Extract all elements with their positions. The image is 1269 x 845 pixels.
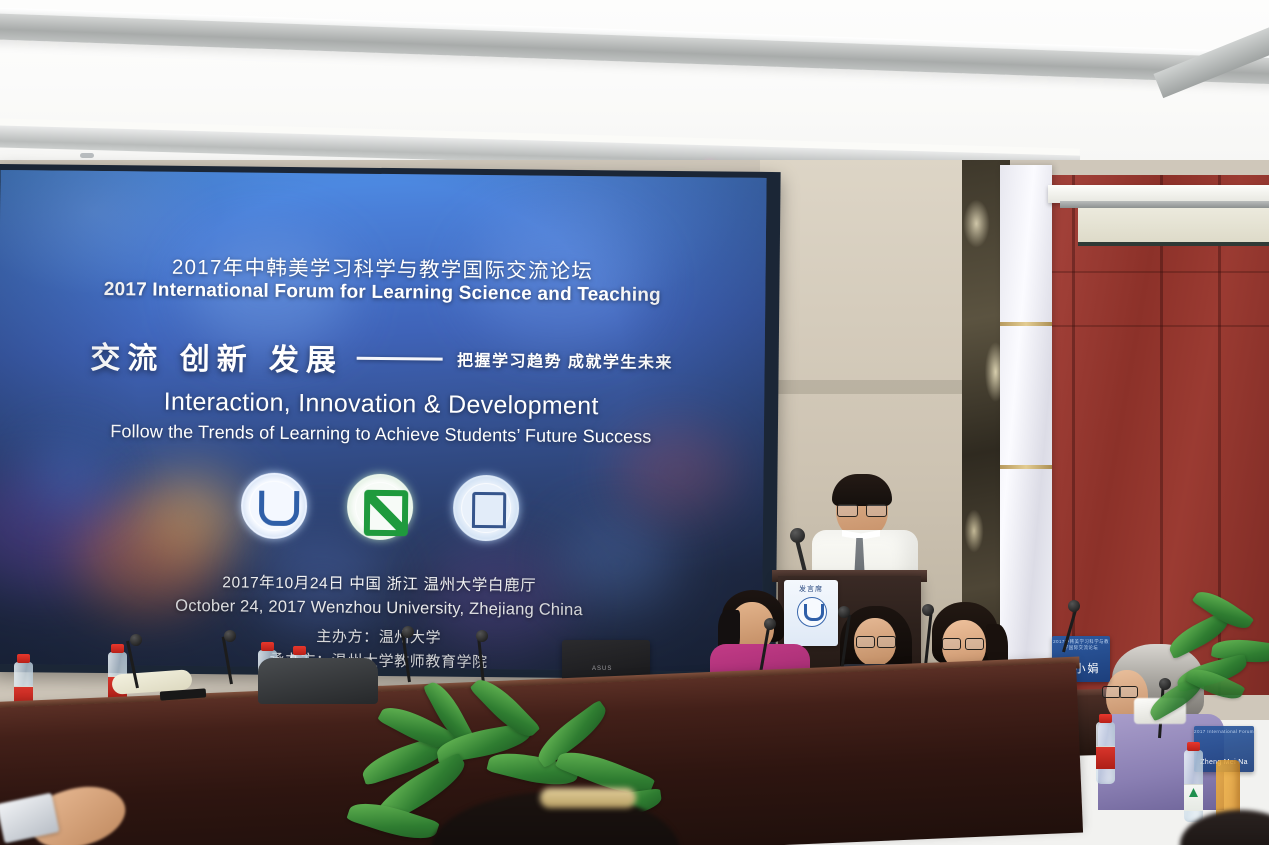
- projector-screen-lip: [1060, 201, 1269, 208]
- rolled-projection-screen: [1078, 208, 1269, 246]
- panel-microphone-head-1: [764, 618, 776, 630]
- front-microphone-head-5: [1068, 600, 1080, 612]
- panelist-denim-glasses-icon: [942, 638, 984, 648]
- front-microphone-head-4: [476, 630, 488, 642]
- speaker-hair: [832, 474, 892, 506]
- podium-microphone-head: [790, 528, 805, 543]
- projection-screen: 2017年中韩美学习科学与教学国际交流论坛 2017 International…: [0, 170, 767, 672]
- panel-microphone-head-2: [838, 606, 850, 618]
- conference-photo-scene: 2017年中韩美学习科学与教学国际交流论坛 2017 International…: [0, 0, 1269, 845]
- laptop-brand-label: ASUS: [592, 666, 612, 672]
- front-microphone-head-3: [402, 626, 414, 638]
- projection-screen-frame: 2017年中韩美学习科学与教学国际交流论坛 2017 International…: [0, 164, 781, 680]
- panelist-grey-hair-glasses-icon: [1102, 686, 1138, 696]
- foreground-hair-clip: [540, 788, 636, 808]
- pillar-gold-band-lower: [1000, 465, 1052, 469]
- front-microphone-head-2: [224, 630, 236, 642]
- ceiling-vent: [80, 153, 94, 158]
- potted-plant-right-lower: [1146, 678, 1266, 788]
- front-microphone-head-1: [130, 634, 142, 646]
- water-bottle-5[interactable]: [1096, 722, 1115, 784]
- placard-top-line: 2017中韩美学习科学与教学国际交流论坛: [1052, 639, 1110, 651]
- chair-back: [258, 658, 378, 704]
- pillar-gold-band-upper: [1000, 322, 1052, 326]
- panel-microphone-head-3: [922, 604, 934, 616]
- panelist-black-top-glasses-icon: [856, 636, 896, 646]
- ceiling: [0, 0, 1269, 180]
- speaker-glasses-icon: [837, 504, 887, 515]
